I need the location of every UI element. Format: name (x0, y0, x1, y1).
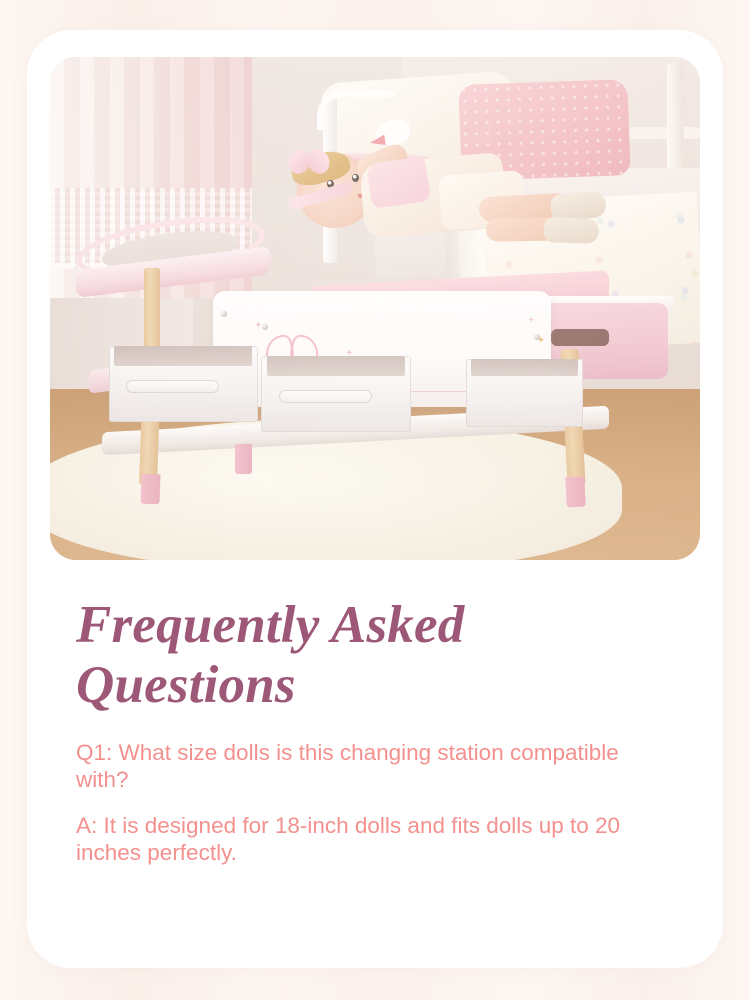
bed-post (667, 62, 684, 183)
faq-question: Q1: What size dolls is this changing sta… (76, 739, 676, 793)
storage-bin (466, 359, 583, 427)
bin-handle (279, 390, 372, 403)
storage-bin (109, 346, 259, 421)
doll-dress-frill (366, 156, 430, 209)
faq-card: Frequently Asked Questions Q1: What size… (27, 30, 723, 968)
hero-image (50, 57, 700, 560)
storage-bin (261, 356, 411, 431)
screw-icon (221, 311, 227, 317)
bin-handle (126, 380, 219, 393)
bin-interior (471, 359, 579, 377)
page-title: Frequently Asked Questions (76, 595, 676, 715)
screw-icon (534, 334, 540, 340)
doll-sock (544, 217, 600, 244)
product-photo-scene (50, 57, 700, 560)
station-leg-foot (565, 477, 585, 508)
station-leg-foot (140, 474, 160, 505)
station-cutout-handle (551, 329, 610, 346)
faq-item: Q1: What size dolls is this changing sta… (76, 739, 676, 793)
bin-interior (114, 346, 252, 366)
faq-content: Frequently Asked Questions Q1: What size… (76, 595, 676, 866)
station-leg-foot (235, 444, 252, 474)
faq-answer: A: It is designed for 18-inch dolls and … (76, 812, 676, 866)
faq-item: A: It is designed for 18-inch dolls and … (76, 812, 676, 866)
doll-sock (550, 191, 607, 221)
bin-interior (267, 356, 405, 376)
faq-list: Q1: What size dolls is this changing sta… (76, 739, 676, 866)
doll-eye (352, 174, 359, 182)
doll-hair-bow (288, 150, 330, 175)
screw-icon (262, 324, 268, 330)
